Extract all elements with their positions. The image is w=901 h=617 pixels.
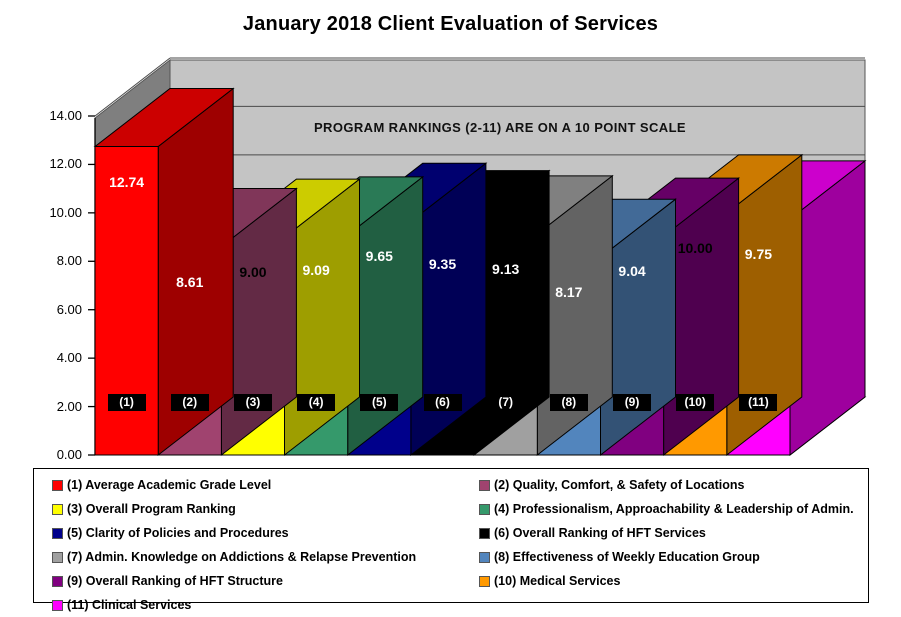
legend-item-label: (8) Effectiveness of Weekly Education Gr… (494, 550, 760, 564)
legend-swatch-icon (52, 552, 63, 563)
legend-item[interactable]: (8) Effectiveness of Weekly Education Gr… (479, 545, 869, 569)
legend-item-label: (4) Professionalism, Approachability & L… (494, 502, 854, 516)
legend-swatch-icon (479, 528, 490, 539)
y-axis-tick-label: 0.00 (20, 447, 82, 462)
legend-item-label: (10) Medical Services (494, 574, 620, 588)
legend-item[interactable]: (5) Clarity of Policies and Procedures (52, 521, 472, 545)
legend-swatch-icon (479, 480, 490, 491)
legend-item-label: (1) Average Academic Grade Level (67, 478, 271, 492)
legend-item-label: (9) Overall Ranking of HFT Structure (67, 574, 283, 588)
y-axis-tick-label: 2.00 (20, 399, 82, 414)
y-axis-tick-label: 4.00 (20, 350, 82, 365)
bar-category-label: (6) (424, 394, 462, 411)
bar-category-label: (5) (360, 394, 398, 411)
y-axis-tick-label: 14.00 (20, 108, 82, 123)
legend-swatch-icon (479, 576, 490, 587)
legend-item[interactable]: (3) Overall Program Ranking (52, 497, 472, 521)
legend-item[interactable]: (9) Overall Ranking of HFT Structure (52, 569, 472, 593)
legend-swatch-icon (52, 576, 63, 587)
bar-value-label: 9.13 (474, 261, 537, 277)
y-axis-tick-label: 10.00 (20, 205, 82, 220)
legend-item-label: (11) Clinical Services (67, 598, 191, 612)
legend-item[interactable]: (4) Professionalism, Approachability & L… (479, 497, 869, 521)
bar-category-label: (9) (613, 394, 651, 411)
bar-value-label: 9.04 (600, 263, 663, 279)
legend-swatch-icon (52, 600, 63, 611)
legend-item-label: (7) Admin. Knowledge on Addictions & Rel… (67, 550, 416, 564)
bar-value-label: 9.09 (285, 262, 348, 278)
bar-category-label: (1) (108, 394, 146, 411)
bar-value-label: 9.75 (727, 246, 790, 262)
legend-column-left: (1) Average Academic Grade Level(3) Over… (52, 473, 472, 617)
legend-item-label: (5) Clarity of Policies and Procedures (67, 526, 289, 540)
bar-category-label: (2) (171, 394, 209, 411)
bar-category-label: (3) (234, 394, 272, 411)
legend-swatch-icon (52, 528, 63, 539)
legend-swatch-icon (479, 504, 490, 515)
legend-item-label: (6) Overall Ranking of HFT Services (494, 526, 706, 540)
legend-item-label: (3) Overall Program Ranking (67, 502, 236, 516)
legend-swatch-icon (52, 504, 63, 515)
legend-column-right: (2) Quality, Comfort, & Safety of Locati… (479, 473, 869, 593)
bar-value-label: 10.00 (664, 240, 727, 256)
bar-category-label: (4) (297, 394, 335, 411)
legend-swatch-icon (479, 552, 490, 563)
legend-swatch-icon (52, 480, 63, 491)
bar-value-label: 8.61 (158, 274, 221, 290)
y-axis-tick-label: 6.00 (20, 302, 82, 317)
y-axis-tick-label: 8.00 (20, 253, 82, 268)
bar-value-label: 12.74 (95, 174, 158, 190)
bar-category-label: (10) (676, 394, 714, 411)
legend-item[interactable]: (11) Clinical Services (52, 593, 472, 617)
legend-item-label: (2) Quality, Comfort, & Safety of Locati… (494, 478, 744, 492)
bar-value-label: 9.65 (348, 248, 411, 264)
legend-item[interactable]: (10) Medical Services (479, 569, 869, 593)
chart-page: January 2018 Client Evaluation of Servic… (0, 0, 901, 612)
bar-value-label: 8.17 (537, 284, 600, 300)
legend-item[interactable]: (7) Admin. Knowledge on Addictions & Rel… (52, 545, 472, 569)
bar-category-label: (8) (550, 394, 588, 411)
plot-annotation: PROGRAM RANKINGS (2-11) ARE ON A 10 POIN… (300, 120, 700, 135)
bar-category-label: (7) (487, 394, 525, 411)
legend-item[interactable]: (2) Quality, Comfort, & Safety of Locati… (479, 473, 869, 497)
bar-value-label: 9.35 (411, 256, 474, 272)
legend-item[interactable]: (1) Average Academic Grade Level (52, 473, 472, 497)
bar-category-label: (11) (739, 394, 777, 411)
bar-value-label: 9.00 (221, 264, 284, 280)
plot-area: PROGRAM RANKINGS (2-11) ARE ON A 10 POIN… (0, 0, 901, 470)
y-axis-tick-label: 12.00 (20, 156, 82, 171)
chart-legend: (1) Average Academic Grade Level(3) Over… (33, 468, 869, 603)
legend-item[interactable]: (6) Overall Ranking of HFT Services (479, 521, 869, 545)
